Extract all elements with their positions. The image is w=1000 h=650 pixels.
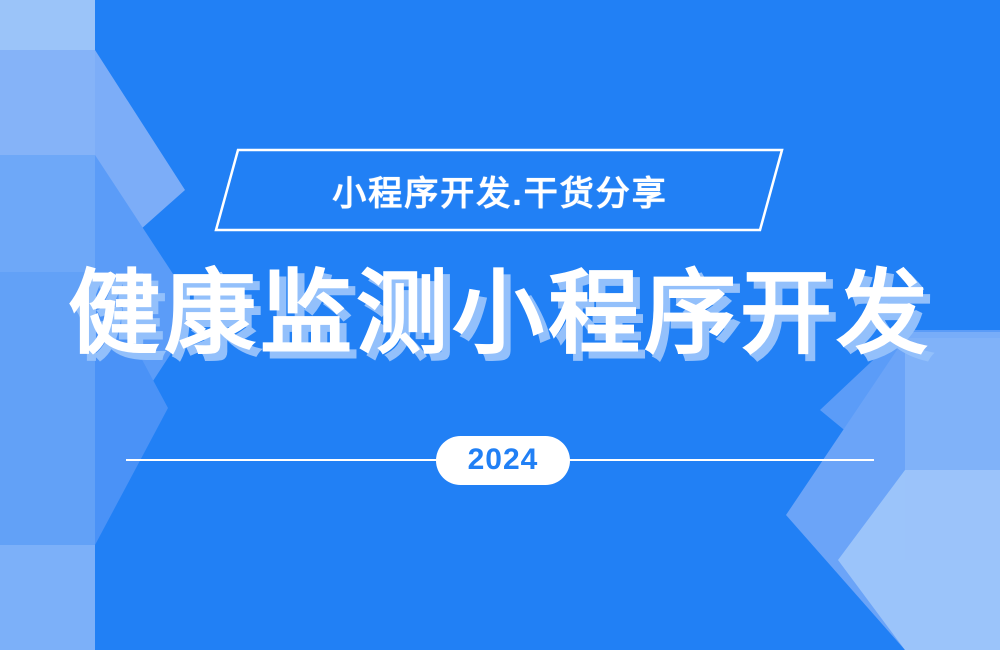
promo-banner: 小程序开发.干货分享 健康监测小程序开发 2024 — [0, 0, 1000, 650]
right-chevron-lower — [838, 470, 1000, 650]
year-badge: 2024 — [436, 436, 571, 485]
right-strip-overlay — [905, 332, 1000, 650]
year-row: 2024 — [0, 434, 1000, 486]
right-bottom-wedge — [905, 560, 1000, 650]
left-bottom-wedge — [0, 470, 95, 650]
year-rule-left — [126, 459, 438, 461]
year-rule-right — [568, 459, 874, 461]
banner-title: 健康监测小程序开发 — [0, 262, 1000, 366]
subtitle-block: 小程序开发.干货分享 — [0, 148, 1000, 232]
banner-subtitle: 小程序开发.干货分享 — [0, 148, 1000, 232]
right-chevron-middle — [786, 338, 1000, 650]
